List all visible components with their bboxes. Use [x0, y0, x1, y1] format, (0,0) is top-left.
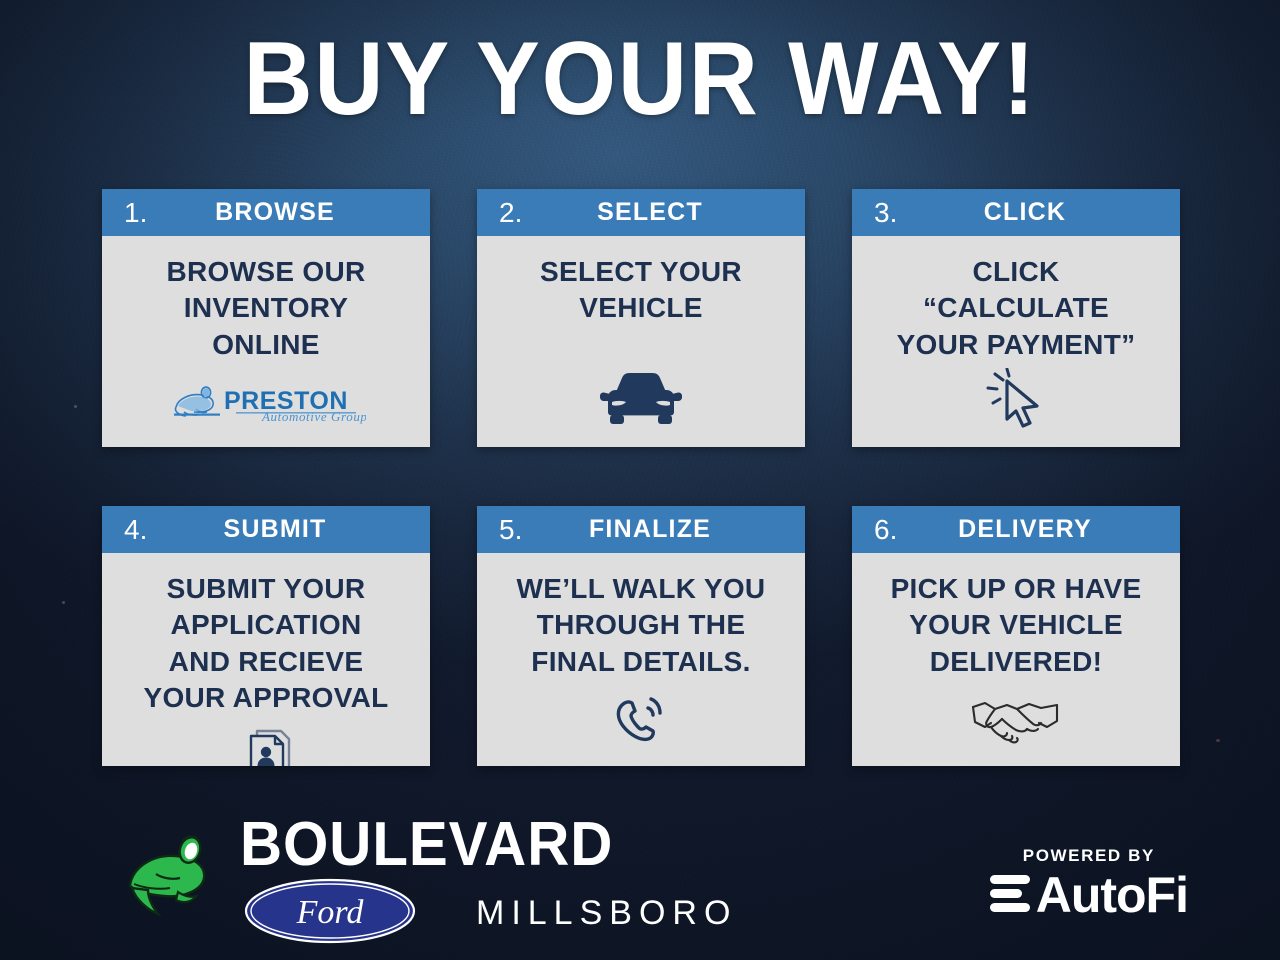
step-description: CLICK “CALCULATE YOUR PAYMENT” — [897, 254, 1136, 363]
step-label: CLICK — [910, 200, 1166, 225]
step-header: 1. BROWSE — [102, 189, 430, 236]
step-card-finalize[interactable]: 5. FINALIZE WE’LL WALK YOU THROUGH THE F… — [477, 506, 805, 766]
car-front-icon — [598, 367, 684, 431]
svg-text:Ford: Ford — [296, 894, 365, 931]
autofi-logo: AutoFi — [990, 870, 1188, 920]
handshake-icon — [969, 686, 1063, 750]
step-label: SELECT — [535, 200, 791, 225]
step-body: SUBMIT YOUR APPLICATION AND RECIEVE YOUR… — [102, 553, 430, 766]
step-description: PICK UP OR HAVE YOUR VEHICLE DELIVERED! — [891, 571, 1142, 680]
step-card-select[interactable]: 2. SELECT SELECT YOUR VEHICLE — [477, 189, 805, 447]
step-number: 1. — [116, 199, 160, 227]
ford-oval-logo: Ford — [244, 878, 416, 949]
step-number: 6. — [866, 516, 910, 544]
step-description: BROWSE OUR INVENTORY ONLINE — [167, 254, 366, 363]
step-body: BROWSE OUR INVENTORY ONLINE — [102, 236, 430, 447]
autofi-branding: POWERED BY AutoFi — [990, 846, 1280, 920]
step-card-click[interactable]: 3. CLICK CLICK “CALCULATE YOUR PAYMENT” — [852, 189, 1180, 447]
footer: BOULEVARD Ford MILLSBORO POWERED BY — [0, 805, 1280, 960]
step-header: 3. CLICK — [852, 189, 1180, 236]
step-number: 4. — [116, 516, 160, 544]
step-body: PICK UP OR HAVE YOUR VEHICLE DELIVERED! — [852, 553, 1180, 766]
step-number: 5. — [491, 516, 535, 544]
autofi-bars-icon — [990, 875, 1030, 912]
ford-and-location-row: Ford MILLSBORO — [244, 878, 737, 949]
step-label: SUBMIT — [160, 517, 416, 542]
frog-logo-icon — [118, 826, 226, 939]
preston-automotive-group-logo: PRESTON Automotive Group — [166, 379, 366, 425]
step-header: 5. FINALIZE — [477, 506, 805, 553]
step-label: DELIVERY — [910, 517, 1166, 542]
step-header: 4. SUBMIT — [102, 506, 430, 553]
dealer-location: MILLSBORO — [476, 894, 737, 933]
step-header: 6. DELIVERY — [852, 506, 1180, 553]
step-description: WE’LL WALK YOU THROUGH THE FINAL DETAILS… — [517, 571, 766, 680]
page-title: BUY YOUR WAY! — [51, 26, 1229, 132]
step-number: 3. — [866, 199, 910, 227]
step-card-delivery[interactable]: 6. DELIVERY PICK UP OR HAVE YOUR VEHICLE… — [852, 506, 1180, 766]
step-description: SUBMIT YOUR APPLICATION AND RECIEVE YOUR… — [143, 571, 388, 717]
step-header: 2. SELECT — [477, 189, 805, 236]
step-label: FINALIZE — [535, 517, 791, 542]
boulevard-wordmark-stack: BOULEVARD Ford MILLSBORO — [240, 816, 737, 950]
svg-text:Automotive Group: Automotive Group — [261, 409, 366, 424]
application-document-icon — [235, 717, 297, 766]
step-card-browse[interactable]: 1. BROWSE BROWSE OUR INVENTORY ONLINE — [102, 189, 430, 447]
step-number: 2. — [491, 199, 535, 227]
dealer-branding: BOULEVARD Ford MILLSBORO — [0, 816, 737, 950]
step-body: SELECT YOUR VEHICLE — [477, 236, 805, 447]
poster-canvas: BUY YOUR WAY! 1. BROWSE BROWSE OUR INVEN… — [0, 0, 1280, 960]
click-cursor-icon — [983, 367, 1049, 431]
autofi-wordmark: AutoFi — [1036, 870, 1188, 920]
step-description: SELECT YOUR VEHICLE — [540, 254, 742, 327]
step-card-submit[interactable]: 4. SUBMIT SUBMIT YOUR APPLICATION AND RE… — [102, 506, 430, 766]
dealer-name: BOULEVARD — [240, 816, 613, 875]
ringing-phone-icon — [608, 686, 674, 750]
step-label: BROWSE — [160, 200, 416, 225]
powered-by-label: POWERED BY — [1023, 846, 1155, 866]
step-body: CLICK “CALCULATE YOUR PAYMENT” — [852, 236, 1180, 447]
step-body: WE’LL WALK YOU THROUGH THE FINAL DETAILS… — [477, 553, 805, 766]
steps-grid: 1. BROWSE BROWSE OUR INVENTORY ONLINE — [102, 189, 1180, 766]
